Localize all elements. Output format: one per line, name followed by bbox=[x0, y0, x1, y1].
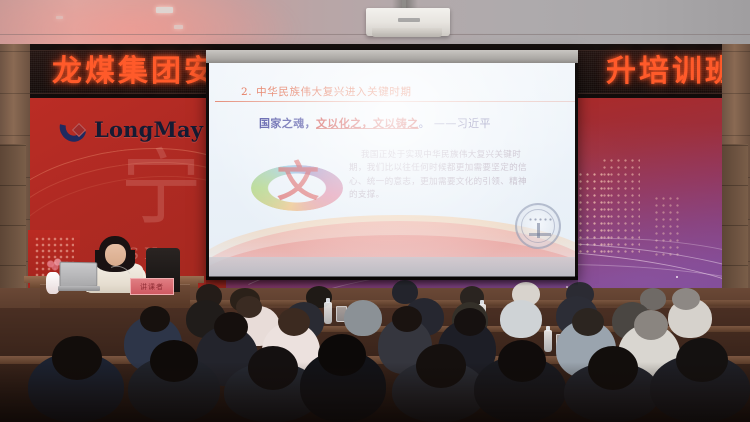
screen-roller-rail bbox=[206, 50, 578, 63]
list-item bbox=[278, 308, 310, 336]
screen-bottom-edge bbox=[209, 257, 575, 277]
name-placard-text: 讲课者 bbox=[140, 282, 164, 292]
slide-quote-part2: 文以化之，文以铸之 bbox=[316, 117, 419, 130]
longmay-logo-text: LongMay bbox=[94, 117, 203, 142]
slide-culture-logo: 文 bbox=[251, 157, 343, 219]
slide-heading: 2. 中华民族伟大复兴进入关键时期 bbox=[241, 84, 412, 99]
list-item bbox=[634, 310, 668, 340]
slide-divider bbox=[215, 101, 575, 102]
ceiling-spotlight bbox=[56, 16, 63, 19]
list-item bbox=[392, 306, 422, 332]
ceiling-projector bbox=[366, 8, 450, 36]
ceiling-spotlight bbox=[156, 7, 173, 13]
screen-drop-shadow bbox=[206, 276, 578, 286]
longmay-logo: LongMay bbox=[60, 114, 203, 144]
ceiling-spotlight bbox=[174, 25, 183, 29]
national-emblem-seal-icon bbox=[515, 203, 561, 249]
slide-quote-attribution: ——习近平 bbox=[434, 117, 491, 130]
list-item bbox=[572, 308, 604, 336]
list-item bbox=[214, 312, 248, 342]
laptop-screen bbox=[59, 262, 97, 288]
sparkle bbox=[676, 276, 678, 278]
led-banner-text-left: 龙煤集团安 bbox=[52, 50, 217, 94]
list-item bbox=[454, 308, 486, 336]
wood-wall-left bbox=[0, 44, 30, 304]
wood-panel-strip bbox=[722, 144, 748, 306]
backdrop-watermark-char: 宁 bbox=[120, 148, 204, 230]
list-item bbox=[140, 306, 170, 332]
list-item bbox=[672, 288, 700, 310]
projection-screen-surface: 2. 中华民族伟大复兴进入关键时期 国家之魂，文以化之，文以铸之。 ——习近平 … bbox=[209, 53, 575, 277]
wood-wall-right bbox=[722, 44, 750, 304]
name-placard: 讲课者 bbox=[130, 278, 174, 295]
slide-quote-part1: 国家之魂， bbox=[259, 117, 316, 130]
projection-screen: 2. 中华民族伟大复兴进入关键时期 国家之魂，文以化之，文以铸之。 ——习近平 … bbox=[206, 50, 578, 280]
slide-logo-char: 文 bbox=[277, 161, 319, 203]
slide-body-text: 我国正处于实现中华民族伟大复兴关键时期，我们比以往任何时候都更加需要坚定的信心、… bbox=[349, 149, 535, 202]
presenter-laptop bbox=[58, 262, 100, 292]
list-item bbox=[344, 300, 382, 336]
led-banner-text-right: 升培训班 bbox=[606, 50, 738, 94]
wood-panel-strip bbox=[0, 144, 26, 306]
slide-quote-part3: 。 bbox=[419, 117, 430, 130]
list-item bbox=[500, 300, 542, 338]
laptop-base bbox=[58, 286, 100, 291]
water-bottle bbox=[324, 302, 332, 324]
conference-room-photo: 龙煤集团安 升培训班 bbox=[0, 0, 750, 422]
water-bottle bbox=[544, 330, 552, 352]
slide-quote: 国家之魂，文以化之，文以铸之。 ——习近平 bbox=[259, 115, 491, 131]
foreground-shadow-gradient bbox=[0, 362, 750, 422]
projector-brand-label bbox=[398, 18, 420, 22]
longmay-swoosh-diamond-icon bbox=[60, 114, 90, 144]
